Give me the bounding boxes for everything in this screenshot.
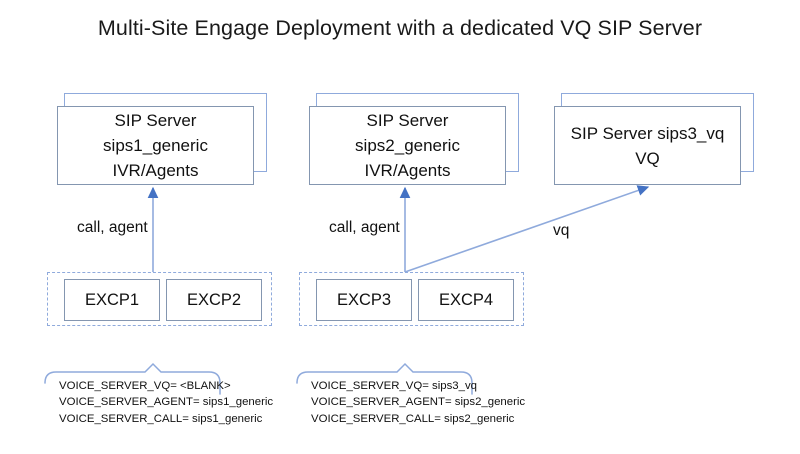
excp-node-excp2[interactable]: EXCP2 (166, 279, 262, 321)
config-1-line-3: VOICE_SERVER_CALL= sips1_generic (59, 411, 273, 427)
config-2-line-2: VOICE_SERVER_AGENT= sips2_generic (311, 394, 525, 410)
sip-server-1-line-2: sips1_generic (103, 133, 208, 158)
sip-server-3-line-2: VQ (635, 146, 660, 171)
config-callout-1-text: VOICE_SERVER_VQ= <BLANK> VOICE_SERVER_AG… (59, 378, 273, 427)
sip-server-2-line-1: SIP Server (367, 108, 449, 133)
excp-node-excp1[interactable]: EXCP1 (64, 279, 160, 321)
sip-server-1-line-3: IVR/Agents (113, 158, 199, 183)
sip-server-2-card[interactable]: SIP Server sips2_generic IVR/Agents (309, 106, 506, 185)
sip-server-3-stack[interactable]: SIP Server sips3_vq VQ (554, 93, 754, 198)
excp-group-1[interactable]: EXCP1 EXCP2 (47, 272, 272, 326)
config-callout-2[interactable]: VOICE_SERVER_VQ= sips3_vq VOICE_SERVER_A… (297, 364, 473, 430)
config-2-line-1: VOICE_SERVER_VQ= sips3_vq (311, 378, 525, 394)
label-call-agent-right: call, agent (329, 219, 400, 237)
excp-node-excp4[interactable]: EXCP4 (418, 279, 514, 321)
page-title: Multi-Site Engage Deployment with a dedi… (0, 16, 800, 41)
excp-node-excp3[interactable]: EXCP3 (316, 279, 412, 321)
excp-group-2[interactable]: EXCP3 EXCP4 (299, 272, 524, 326)
sip-server-2-line-3: IVR/Agents (365, 158, 451, 183)
config-callout-1[interactable]: VOICE_SERVER_VQ= <BLANK> VOICE_SERVER_AG… (45, 364, 221, 430)
config-callout-2-text: VOICE_SERVER_VQ= sips3_vq VOICE_SERVER_A… (311, 378, 525, 427)
config-1-line-2: VOICE_SERVER_AGENT= sips1_generic (59, 394, 273, 410)
sip-server-2-line-2: sips2_generic (355, 133, 460, 158)
sip-server-1-line-1: SIP Server (115, 108, 197, 133)
config-1-line-1: VOICE_SERVER_VQ= <BLANK> (59, 378, 273, 394)
sip-server-1-card[interactable]: SIP Server sips1_generic IVR/Agents (57, 106, 254, 185)
sip-server-2-stack[interactable]: SIP Server sips2_generic IVR/Agents (309, 93, 519, 198)
label-vq: vq (553, 222, 569, 240)
sip-server-1-stack[interactable]: SIP Server sips1_generic IVR/Agents (57, 93, 267, 198)
label-call-agent-left: call, agent (77, 219, 148, 237)
sip-server-3-card[interactable]: SIP Server sips3_vq VQ (554, 106, 741, 185)
config-2-line-3: VOICE_SERVER_CALL= sips2_generic (311, 411, 525, 427)
connector-vq (405, 187, 648, 272)
sip-server-3-line-1: SIP Server sips3_vq (571, 121, 725, 146)
